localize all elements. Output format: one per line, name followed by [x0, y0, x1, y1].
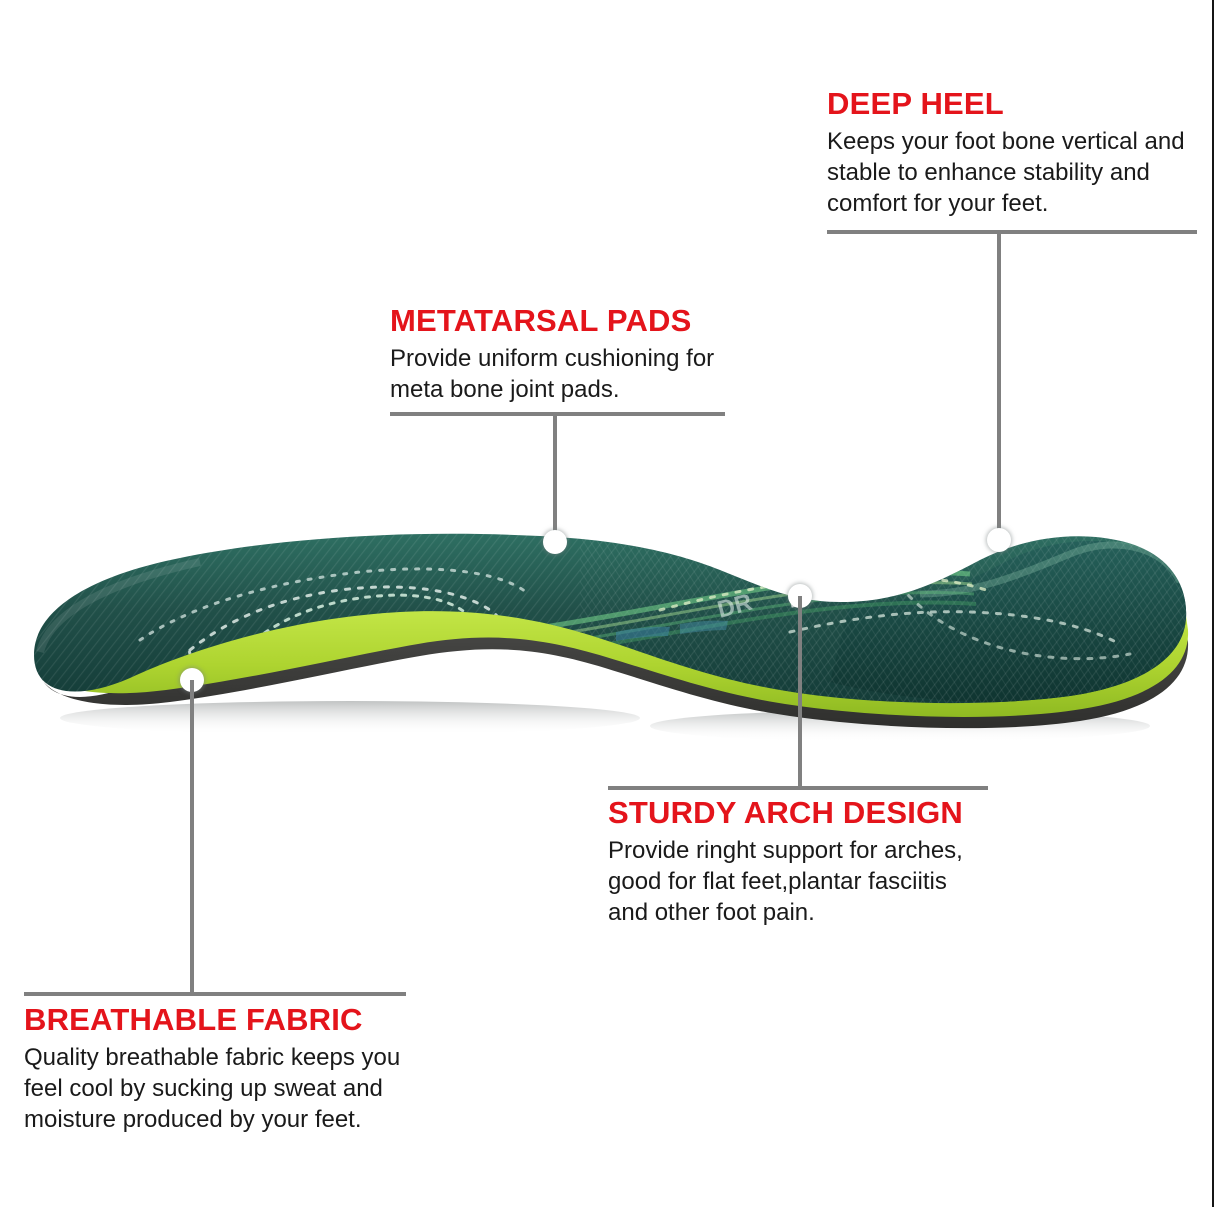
- callout-breathable-fabric-body: Quality breathable fabric keeps you feel…: [24, 1042, 424, 1135]
- leader-stem-breathable-fabric: [190, 680, 194, 994]
- leader-stem-sturdy-arch-design: [798, 596, 802, 786]
- callout-deep-heel: DEEP HEEL Keeps your foot bone vertical …: [827, 86, 1199, 219]
- infographic-canvas: R DR DEEP HEEL Keeps your foot bone vert…: [0, 0, 1214, 1207]
- leader-stem-deep-heel: [997, 230, 1001, 542]
- callout-metatarsal-pads: METATARSAL PADS Provide uniform cushioni…: [390, 303, 730, 405]
- leader-rule-sturdy-arch-design: [608, 786, 988, 790]
- callout-sturdy-arch-design: STURDY ARCH DESIGN Provide ringht suppor…: [608, 795, 1008, 928]
- leader-rule-breathable-fabric: [24, 992, 406, 996]
- marker-dot-metatarsal-pads: [543, 530, 567, 554]
- callout-breathable-fabric: BREATHABLE FABRIC Quality breathable fab…: [24, 1002, 424, 1135]
- leader-rule-deep-heel: [827, 230, 1197, 234]
- callout-metatarsal-pads-body: Provide uniform cushioning for meta bone…: [390, 343, 730, 405]
- callout-sturdy-arch-design-title: STURDY ARCH DESIGN: [608, 795, 1008, 831]
- callout-breathable-fabric-title: BREATHABLE FABRIC: [24, 1002, 424, 1038]
- callout-deep-heel-title: DEEP HEEL: [827, 86, 1199, 122]
- insole-product-image: R DR: [20, 490, 1200, 750]
- leader-stem-metatarsal-pads: [553, 412, 557, 538]
- callout-sturdy-arch-design-body: Provide ringht support for arches, good …: [608, 835, 1008, 928]
- marker-dot-deep-heel: [987, 528, 1011, 552]
- callout-metatarsal-pads-title: METATARSAL PADS: [390, 303, 730, 339]
- callout-deep-heel-body: Keeps your foot bone vertical and stable…: [827, 126, 1199, 219]
- leader-rule-metatarsal-pads: [390, 412, 725, 416]
